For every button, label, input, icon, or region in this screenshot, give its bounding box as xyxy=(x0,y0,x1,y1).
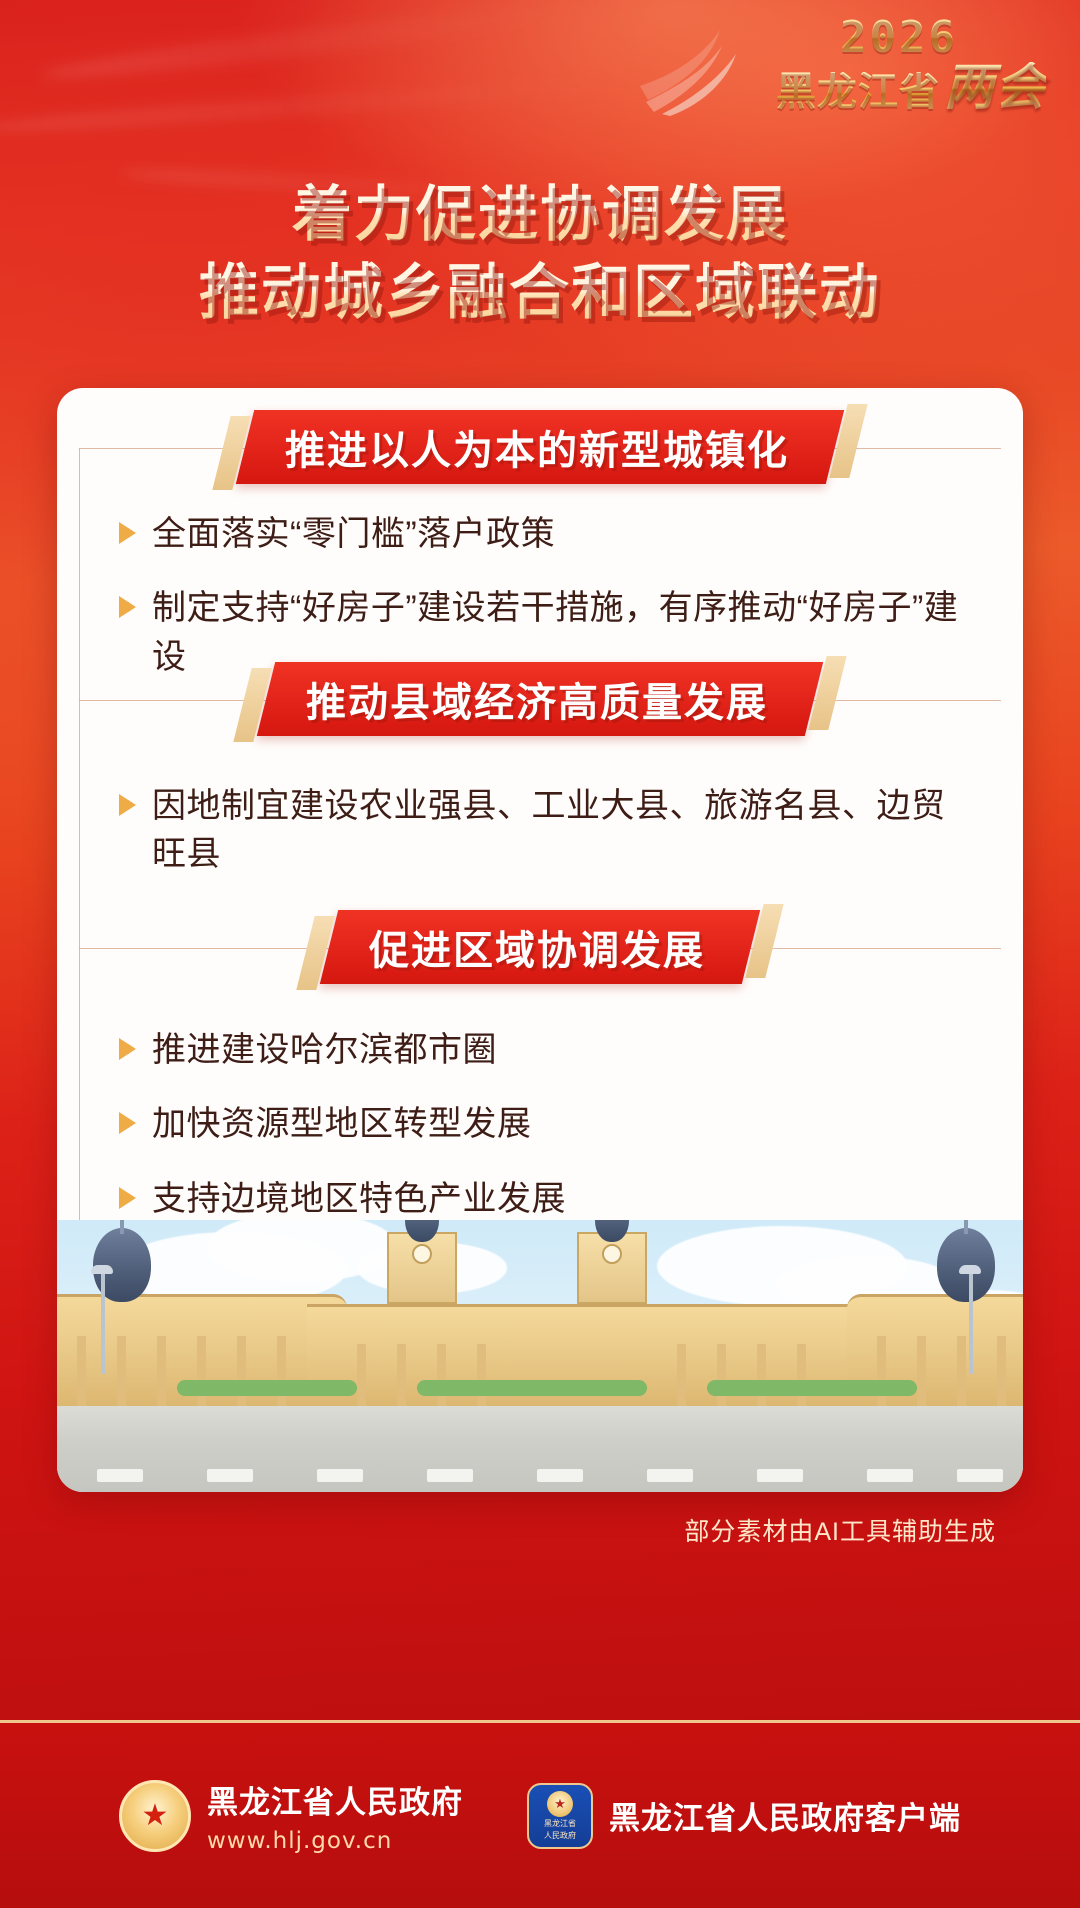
app-icon-line2: 人民政府 xyxy=(544,1832,576,1841)
poster: 2026 黑龙江省 两会 着力促进协调发展 推动城乡融合和区域联动 推进以人为本… xyxy=(0,0,1080,1908)
triangle-bullet-icon xyxy=(119,1038,136,1060)
gov-url[interactable]: www.hlj.gov.cn xyxy=(207,1828,463,1854)
triangle-bullet-icon xyxy=(119,596,136,618)
event-logo: 2026 黑龙江省 两会 xyxy=(634,14,1054,118)
section-2-bullets: 因地制宜建设农业强县、工业大县、旅游名县、边贸旺县 xyxy=(57,782,1023,879)
section-3-title: 促进区域协调发展 xyxy=(369,918,705,976)
section-1-title: 推进以人为本的新型城镇化 xyxy=(285,418,789,476)
gov-name: 黑龙江省人民政府 xyxy=(207,1777,463,1822)
content-card: 推进以人为本的新型城镇化 全面落实“零门槛”落户政策 制定支持“好房子”建设若干… xyxy=(57,388,1023,1492)
bullet-text: 因地制宜建设农业强县、工业大县、旅游名县、边贸旺县 xyxy=(152,782,973,879)
list-item: 支持边境地区特色产业发展 xyxy=(119,1175,973,1223)
app-icon-line1: 黑龙江省 xyxy=(544,1820,576,1829)
triangle-bullet-icon xyxy=(119,1187,136,1209)
ribbon-icon xyxy=(640,24,760,116)
logo-province: 黑龙江省 xyxy=(776,72,940,112)
list-item: 因地制宜建设农业强县、工业大县、旅游名县、边贸旺县 xyxy=(119,782,973,879)
app-icon[interactable]: ★ 黑龙江省 人民政府 xyxy=(527,1783,593,1849)
section-2-banner: 推动县域经济高质量发展 xyxy=(57,662,1023,736)
section-3-banner: 促进区域协调发展 xyxy=(57,910,1023,984)
gov-identity: ★ 黑龙江省人民政府 www.hlj.gov.cn xyxy=(119,1777,463,1854)
triangle-bullet-icon xyxy=(119,794,136,816)
list-item: 推进建设哈尔滨都市圈 xyxy=(119,1026,973,1074)
ai-credit-note: 部分素材由AI工具辅助生成 xyxy=(684,1512,996,1548)
bullet-text: 全面落实“零门槛”落户政策 xyxy=(152,510,555,558)
page-title-line1: 着力促进协调发展 xyxy=(0,176,1080,254)
section-3: 促进区域协调发展 推进建设哈尔滨都市圈 加快资源型地区转型发展 支持边境地区特色… xyxy=(57,910,1023,1223)
bullet-text: 加快资源型地区转型发展 xyxy=(152,1100,532,1148)
list-item: 全面落实“零门槛”落户政策 xyxy=(119,510,973,558)
section-1-bullets: 全面落实“零门槛”落户政策 制定支持“好房子”建设若干措施，有序推动“好房子”建… xyxy=(57,510,1023,681)
app-name: 黑龙江省人民政府客户端 xyxy=(609,1793,961,1838)
logo-year: 2026 xyxy=(776,16,958,60)
triangle-bullet-icon xyxy=(119,1112,136,1134)
section-3-bullets: 推进建设哈尔滨都市圈 加快资源型地区转型发展 支持边境地区特色产业发展 xyxy=(57,1026,1023,1223)
logo-event: 两会 xyxy=(944,62,1046,112)
footer-bar: ★ 黑龙江省人民政府 www.hlj.gov.cn ★ 黑龙江省 人民政府 黑龙… xyxy=(0,1720,1080,1908)
section-2: 推动县域经济高质量发展 因地制宜建设农业强县、工业大县、旅游名县、边贸旺县 xyxy=(57,662,1023,879)
page-title: 着力促进协调发展 推动城乡融合和区域联动 xyxy=(0,176,1080,332)
national-emblem-icon: ★ xyxy=(119,1780,191,1852)
list-item: 加快资源型地区转型发展 xyxy=(119,1100,973,1148)
gov-app-entry[interactable]: ★ 黑龙江省 人民政府 黑龙江省人民政府客户端 xyxy=(527,1783,961,1849)
section-1-banner: 推进以人为本的新型城镇化 xyxy=(57,410,1023,484)
triangle-bullet-icon xyxy=(119,522,136,544)
bullet-text: 推进建设哈尔滨都市圈 xyxy=(152,1026,497,1074)
city-illustration xyxy=(57,1220,1023,1492)
page-title-line2: 推动城乡融合和区域联动 xyxy=(0,254,1080,332)
bullet-text: 支持边境地区特色产业发展 xyxy=(152,1175,566,1223)
section-1: 推进以人为本的新型城镇化 全面落实“零门槛”落户政策 制定支持“好房子”建设若干… xyxy=(57,410,1023,681)
section-2-title: 推动县域经济高质量发展 xyxy=(306,670,768,728)
